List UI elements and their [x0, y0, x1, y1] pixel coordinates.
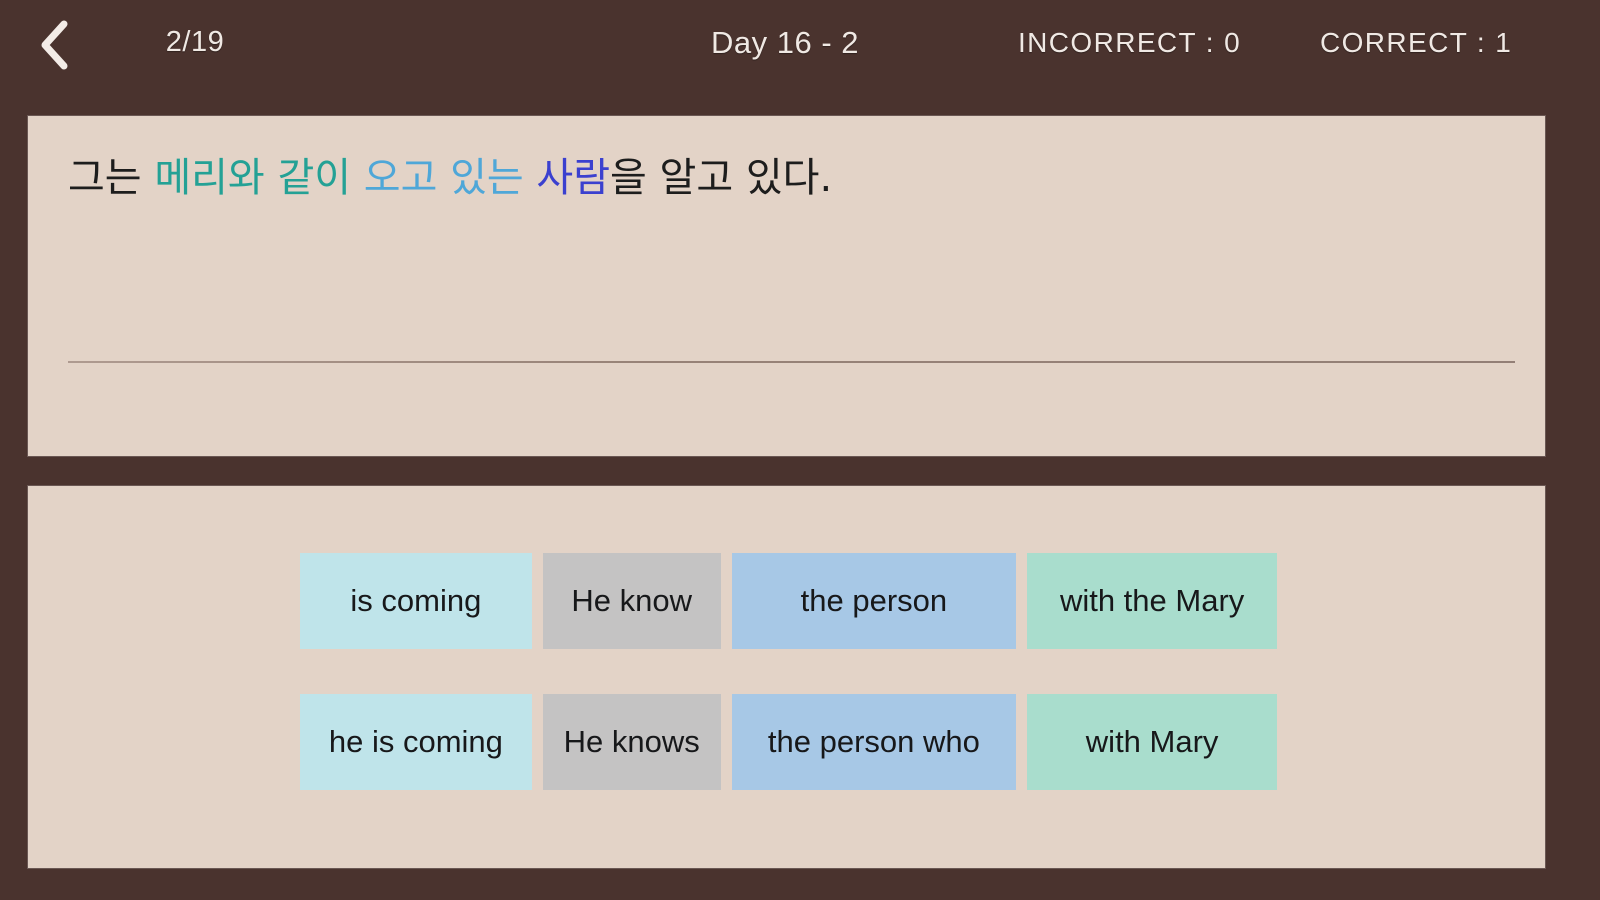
answer-choices-panel: is comingHe knowthe personwith the Maryh…	[28, 486, 1545, 868]
word-tile[interactable]: with the Mary	[1027, 553, 1277, 649]
word-tile[interactable]: with Mary	[1027, 694, 1277, 790]
word-tile[interactable]: he is coming	[300, 694, 532, 790]
answer-input-divider	[68, 361, 1515, 363]
app-header: 2/19 Day 16 - 2 INCORRECT : 0 CORRECT : …	[0, 0, 1600, 95]
word-tile[interactable]: He knows	[543, 694, 721, 790]
question-segment-4: 을 알고 있다.	[610, 155, 832, 201]
lesson-title: Day 16 - 2	[560, 25, 1010, 61]
word-tile-row: he is comingHe knowsthe person whowith M…	[300, 694, 1277, 790]
question-segment-2: 오고 있는	[364, 155, 537, 201]
question-segment-1: 메리와 같이	[154, 155, 363, 201]
question-segment-3: 사람	[536, 155, 610, 201]
incorrect-score: INCORRECT : 0	[1018, 27, 1241, 59]
word-tile-row: is comingHe knowthe personwith the Mary	[300, 553, 1277, 649]
progress-counter: 2/19	[0, 26, 390, 59]
word-tile[interactable]: He know	[543, 553, 721, 649]
word-tile[interactable]: the person	[732, 553, 1017, 649]
question-panel: 그는 메리와 같이 오고 있는 사람을 알고 있다.	[28, 116, 1545, 456]
question-sentence: 그는 메리와 같이 오고 있는 사람을 알고 있다.	[68, 151, 1515, 205]
correct-score: CORRECT : 1	[1320, 27, 1512, 59]
word-tile[interactable]: is coming	[300, 553, 532, 649]
word-tile[interactable]: the person who	[732, 694, 1017, 790]
question-segment-0: 그는	[68, 155, 154, 201]
word-tile-grid: is comingHe knowthe personwith the Maryh…	[300, 553, 1277, 790]
